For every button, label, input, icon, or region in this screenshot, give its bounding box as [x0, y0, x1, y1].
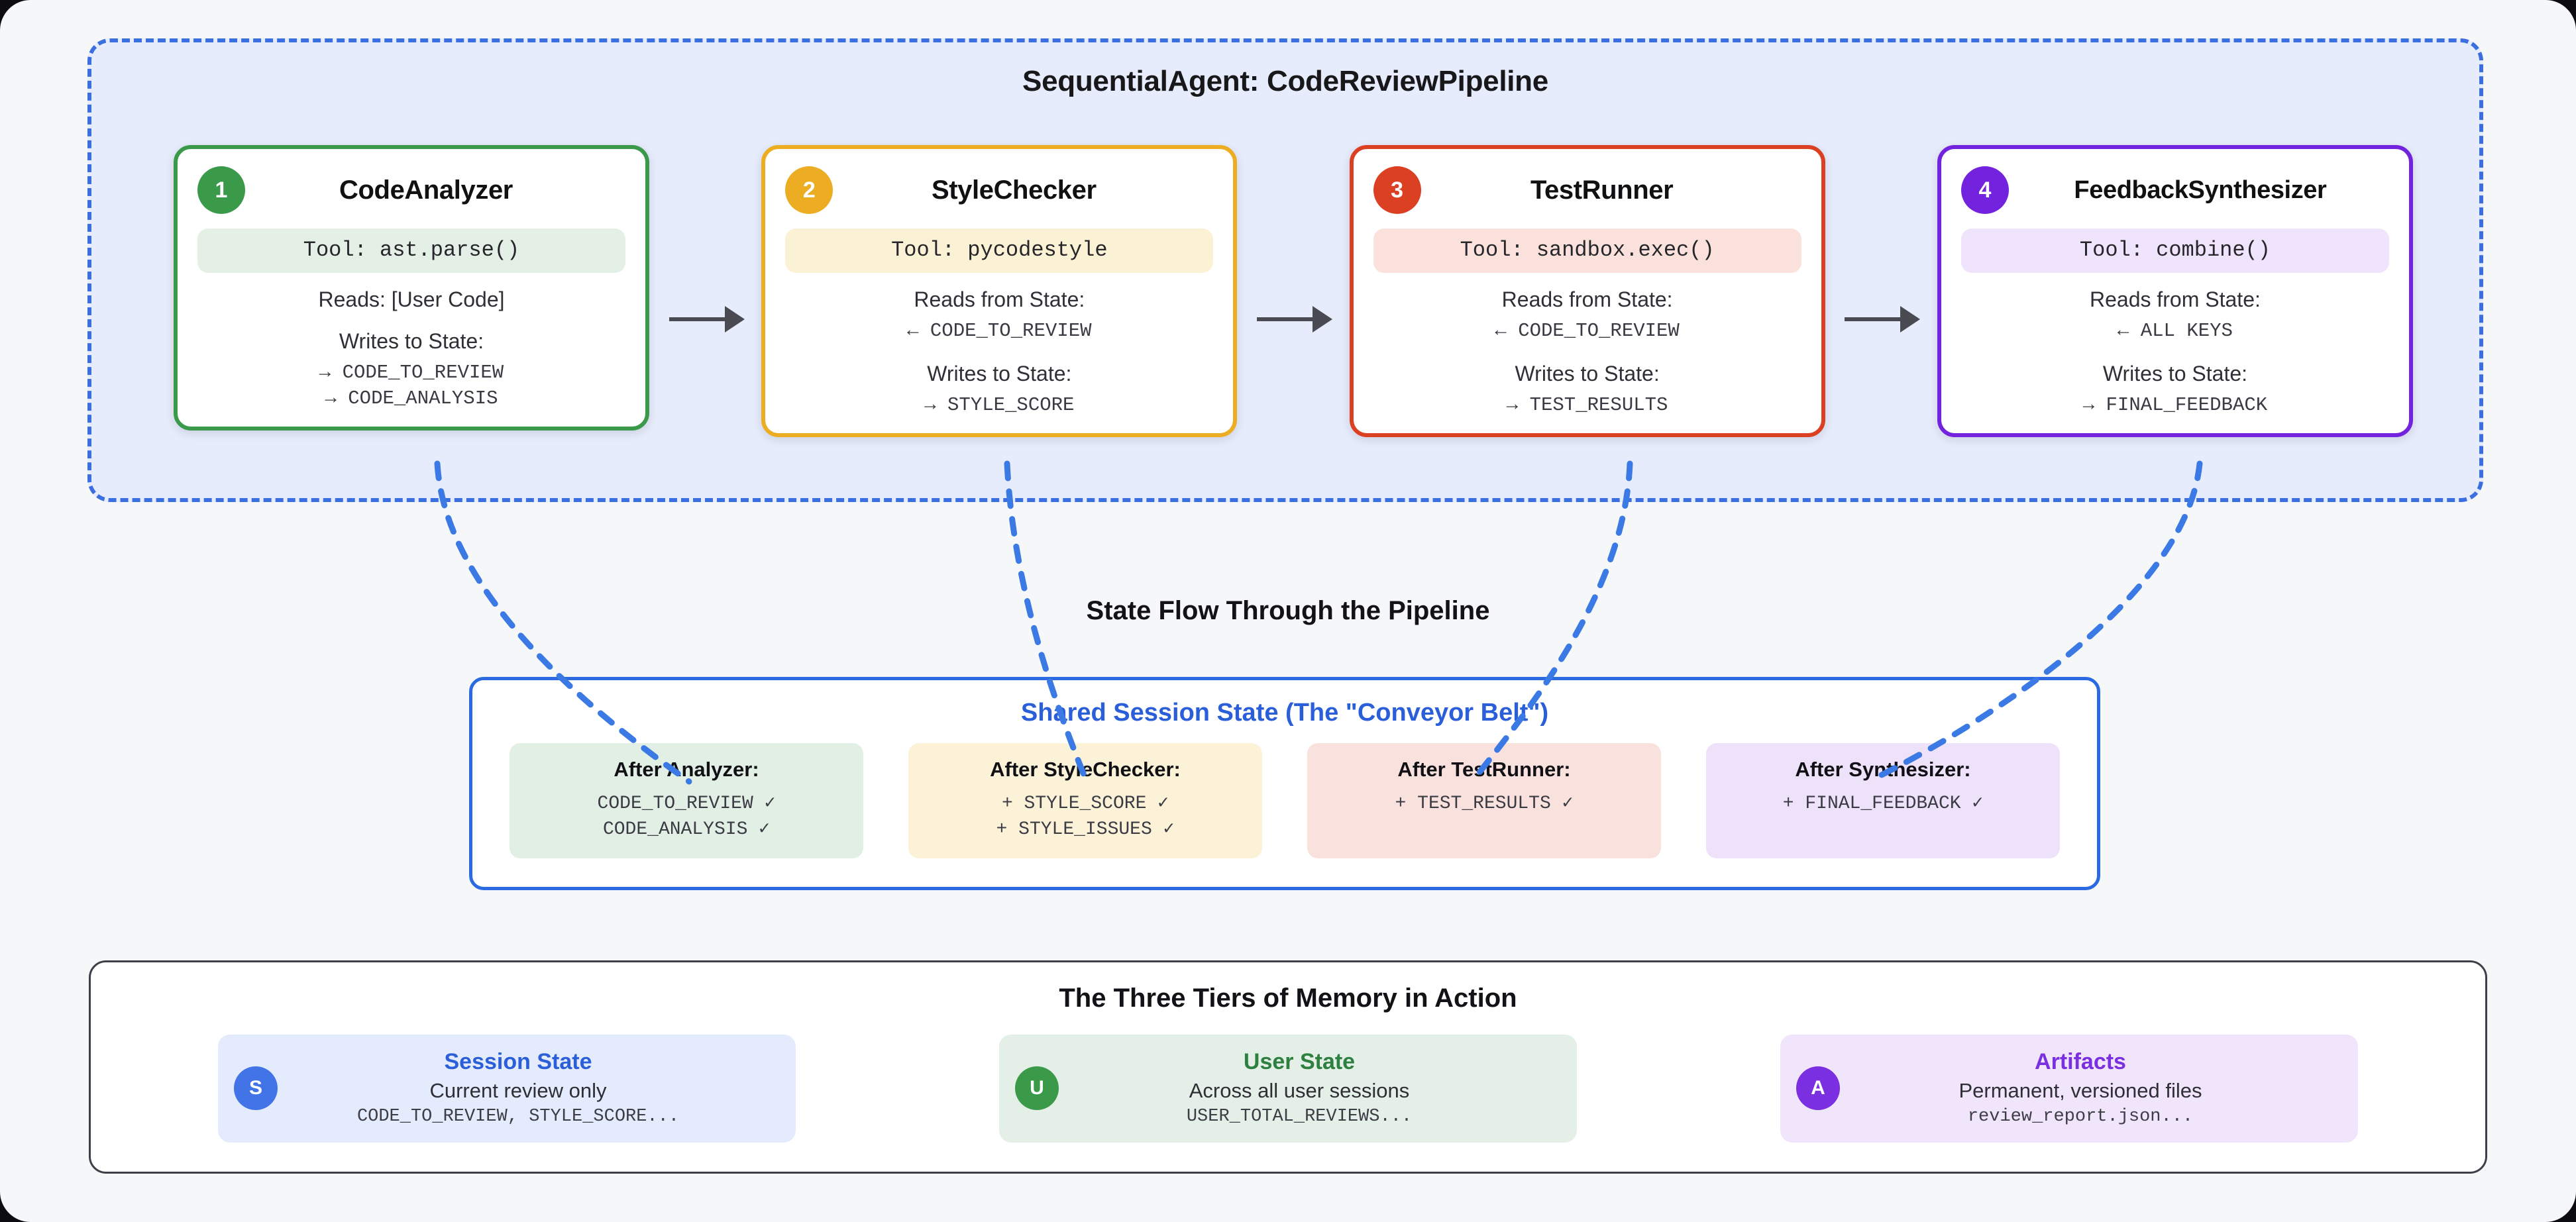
memory-tiers-title: The Three Tiers of Memory in Action — [91, 984, 2485, 1013]
step-number-badge: 4 — [1961, 166, 2009, 214]
agent-cards-row: 1 CodeAnalyzer Tool: ast.parse() Reads: … — [174, 145, 2413, 437]
tool-chip: Tool: sandbox.exec() — [1373, 229, 1801, 273]
agent-name: TestRunner — [1434, 176, 1801, 205]
memory-tier-artifacts[interactable]: A Artifacts Permanent, versioned files r… — [1780, 1035, 2358, 1143]
tool-chip: Tool: ast.parse() — [197, 229, 625, 273]
writes-label: Writes to State: — [197, 329, 625, 354]
memory-tier-keys: CODE_TO_REVIEW, STYLE_SCORE... — [296, 1107, 740, 1127]
state-key: + STYLE_SCORE ✓ — [915, 791, 1256, 817]
state-cell-title: After TestRunner: — [1314, 758, 1654, 782]
reads-label: Reads from State: — [1961, 287, 2389, 312]
writes-label: Writes to State: — [1961, 362, 2389, 386]
state-key: CODE_TO_REVIEW ✓ — [516, 791, 857, 817]
state-cell-title: After Synthesizer: — [1713, 758, 2053, 782]
stateflow-heading: State Flow Through the Pipeline — [0, 596, 2576, 626]
reads-label: Reads: [User Code] — [197, 287, 625, 312]
agent-card-stylechecker[interactable]: 2 StyleChecker Tool: pycodestyle Reads f… — [761, 145, 1237, 437]
writes-key: → STYLE_SCORE — [785, 393, 1213, 419]
memory-tier-body: Artifacts Permanent, versioned files rev… — [1858, 1049, 2342, 1127]
pipeline-container: SequentialAgent: CodeReviewPipeline 1 Co… — [87, 38, 2483, 502]
writes-key: → FINAL_FEEDBACK — [1961, 393, 2389, 419]
state-cell-after-testrunner: After TestRunner: + TEST_RESULTS ✓ — [1307, 743, 1661, 858]
memory-tier-desc: Across all user sessions — [1077, 1079, 1521, 1103]
artifacts-badge-icon: A — [1796, 1066, 1840, 1110]
arrow-2-to-3-icon — [1257, 317, 1330, 321]
state-key: CODE_ANALYSIS ✓ — [516, 817, 857, 842]
reads-label: Reads from State: — [785, 287, 1213, 312]
arrow-3-to-4-icon — [1845, 317, 1917, 321]
memory-tier-user-state[interactable]: U User State Across all user sessions US… — [999, 1035, 1577, 1143]
state-cell-after-stylechecker: After StyleChecker: + STYLE_SCORE ✓ + ST… — [908, 743, 1262, 858]
writes-key: → CODE_ANALYSIS — [197, 386, 625, 412]
writes-label: Writes to State: — [1373, 362, 1801, 386]
shared-session-state-title: Shared Session State (The "Conveyor Belt… — [472, 699, 2097, 727]
agent-name: CodeAnalyzer — [258, 176, 625, 205]
memory-tier-name: Session State — [296, 1049, 740, 1075]
diagram-canvas: SequentialAgent: CodeReviewPipeline 1 Co… — [0, 0, 2576, 1222]
reads-key: ← ALL KEYS — [1961, 319, 2389, 344]
writes-label: Writes to State: — [785, 362, 1213, 386]
memory-tier-desc: Permanent, versioned files — [1858, 1079, 2302, 1103]
state-key: + TEST_RESULTS ✓ — [1314, 791, 1654, 817]
card-header: 4 FeedbackSynthesizer — [1961, 166, 2389, 214]
agent-card-testrunner[interactable]: 3 TestRunner Tool: sandbox.exec() Reads … — [1350, 145, 1825, 437]
card-header: 3 TestRunner — [1373, 166, 1801, 214]
pipeline-title: SequentialAgent: CodeReviewPipeline — [91, 65, 2479, 98]
reads-label: Reads from State: — [1373, 287, 1801, 312]
memory-tier-desc: Current review only — [296, 1079, 740, 1103]
memory-tier-body: User State Across all user sessions USER… — [1077, 1049, 1561, 1127]
memory-tier-name: Artifacts — [1858, 1049, 2302, 1075]
step-number-badge: 3 — [1373, 166, 1421, 214]
agent-name: FeedbackSynthesizer — [2022, 176, 2389, 205]
memory-tier-body: Session State Current review only CODE_T… — [296, 1049, 780, 1127]
session-state-badge-icon: S — [234, 1066, 278, 1110]
state-cell-title: After StyleChecker: — [915, 758, 1256, 782]
agent-name: StyleChecker — [846, 176, 1213, 205]
memory-tier-keys: review_report.json... — [1858, 1107, 2302, 1127]
shared-session-state-panel: Shared Session State (The "Conveyor Belt… — [469, 677, 2100, 890]
memory-tier-session-state[interactable]: S Session State Current review only CODE… — [218, 1035, 796, 1143]
user-state-badge-icon: U — [1015, 1066, 1059, 1110]
state-cell-after-analyzer: After Analyzer: CODE_TO_REVIEW ✓ CODE_AN… — [510, 743, 863, 858]
writes-key: → TEST_RESULTS — [1373, 393, 1801, 419]
card-header: 2 StyleChecker — [785, 166, 1213, 214]
step-number-badge: 2 — [785, 166, 833, 214]
card-header: 1 CodeAnalyzer — [197, 166, 625, 214]
state-key: + STYLE_ISSUES ✓ — [915, 817, 1256, 842]
state-key: + FINAL_FEEDBACK ✓ — [1713, 791, 2053, 817]
memory-tier-keys: USER_TOTAL_REVIEWS... — [1077, 1107, 1521, 1127]
agent-card-feedbacksynthesizer[interactable]: 4 FeedbackSynthesizer Tool: combine() Re… — [1937, 145, 2413, 437]
memory-tiers-row: S Session State Current review only CODE… — [91, 1013, 2485, 1143]
reads-key: ← CODE_TO_REVIEW — [1373, 319, 1801, 344]
state-cell-after-synthesizer: After Synthesizer: + FINAL_FEEDBACK ✓ — [1706, 743, 2060, 858]
state-cells-row: After Analyzer: CODE_TO_REVIEW ✓ CODE_AN… — [472, 727, 2097, 858]
arrow-1-to-2-icon — [669, 317, 742, 321]
tool-chip: Tool: combine() — [1961, 229, 2389, 273]
agent-card-codeanalyzer[interactable]: 1 CodeAnalyzer Tool: ast.parse() Reads: … — [174, 145, 649, 431]
state-cell-title: After Analyzer: — [516, 758, 857, 782]
memory-tier-name: User State — [1077, 1049, 1521, 1075]
tool-chip: Tool: pycodestyle — [785, 229, 1213, 273]
memory-tiers-panel: The Three Tiers of Memory in Action S Se… — [89, 960, 2487, 1174]
reads-key: ← CODE_TO_REVIEW — [785, 319, 1213, 344]
writes-key: → CODE_TO_REVIEW — [197, 360, 625, 386]
step-number-badge: 1 — [197, 166, 245, 214]
